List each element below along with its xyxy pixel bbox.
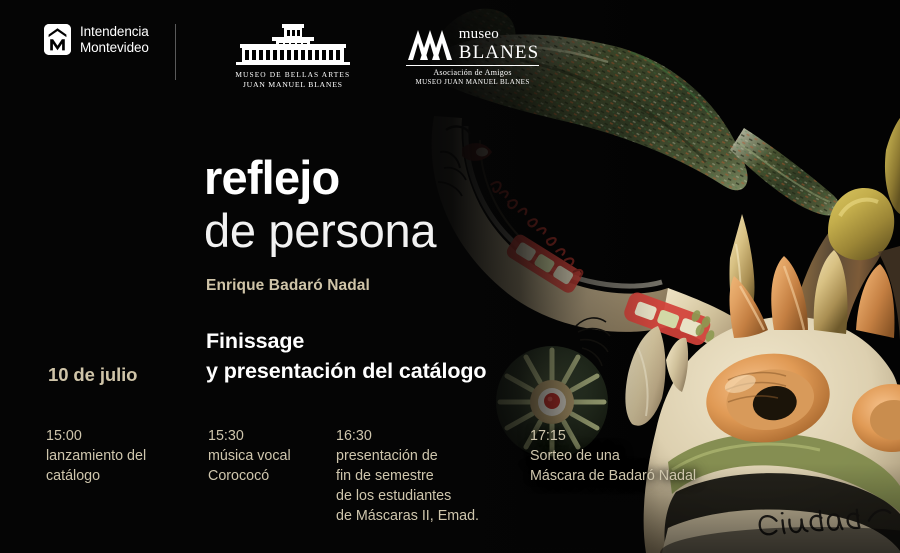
event-date: 10 de julio [48,364,137,386]
museo-bellas-artes-line-1: MUSEO DE BELLAS ARTES [198,70,388,80]
schedule-description: lanzamiento del catálogo [46,446,216,486]
intendencia-line-2: Montevideo [80,40,149,55]
logo-bar: Intendencia Montevideo [44,24,539,84]
amigos-subtitle-1: Asociación de Amigos [406,68,540,78]
logo-intendencia-montevideo: Intendencia Montevideo [44,24,149,55]
schedule-description: presentación de fin de semestre de los e… [336,446,526,526]
intendencia-label: Intendencia Montevideo [80,24,149,55]
intendencia-m-icon [44,24,71,55]
schedule-time: 15:00 [46,426,216,446]
logo-asociacion-amigos: museo BLANES Asociación de Amigos MUSEO … [406,24,540,87]
museum-building-icon [232,24,354,66]
intendencia-line-1: Intendencia [80,24,149,39]
schedule-time: 17:15 [530,426,760,446]
schedule-description: Sorteo de una Máscara de Badaró Nadal [530,446,760,486]
schedule-time: 16:30 [336,426,526,446]
museo-blanes-mountains-icon [406,26,452,62]
schedule-list: 15:00 lanzamiento del catálogo 15:30 mús… [0,426,900,546]
logo-museo-bellas-artes: MUSEO DE BELLAS ARTES JUAN MANUEL BLANES [198,24,388,90]
event-heading-line-1: Finissage [206,326,486,356]
page-title: reflejo de persona [204,152,436,258]
title-line-secondary: de persona [204,204,436,258]
event-heading: Finissage y presentación del catálogo [206,326,486,386]
schedule-item: 16:30 presentación de fin de semestre de… [336,426,526,526]
event-heading-line-2: y presentación del catálogo [206,356,486,386]
logo-divider [175,24,176,80]
amigos-rule [406,65,540,66]
poster: Intendencia Montevideo [0,0,900,553]
amigos-blanes-word: BLANES [459,43,540,62]
schedule-item: 17:15 Sorteo de una Máscara de Badaró Na… [530,426,760,486]
artist-name: Enrique Badaró Nadal [206,277,370,295]
amigos-subtitle-2: MUSEO JUAN MANUEL BLANES [406,78,540,87]
schedule-item: 15:00 lanzamiento del catálogo [46,426,216,486]
title-line-primary: reflejo [204,152,436,204]
museo-bellas-artes-line-2: JUAN MANUEL BLANES [198,80,388,90]
amigos-museo-word: museo [459,27,540,42]
